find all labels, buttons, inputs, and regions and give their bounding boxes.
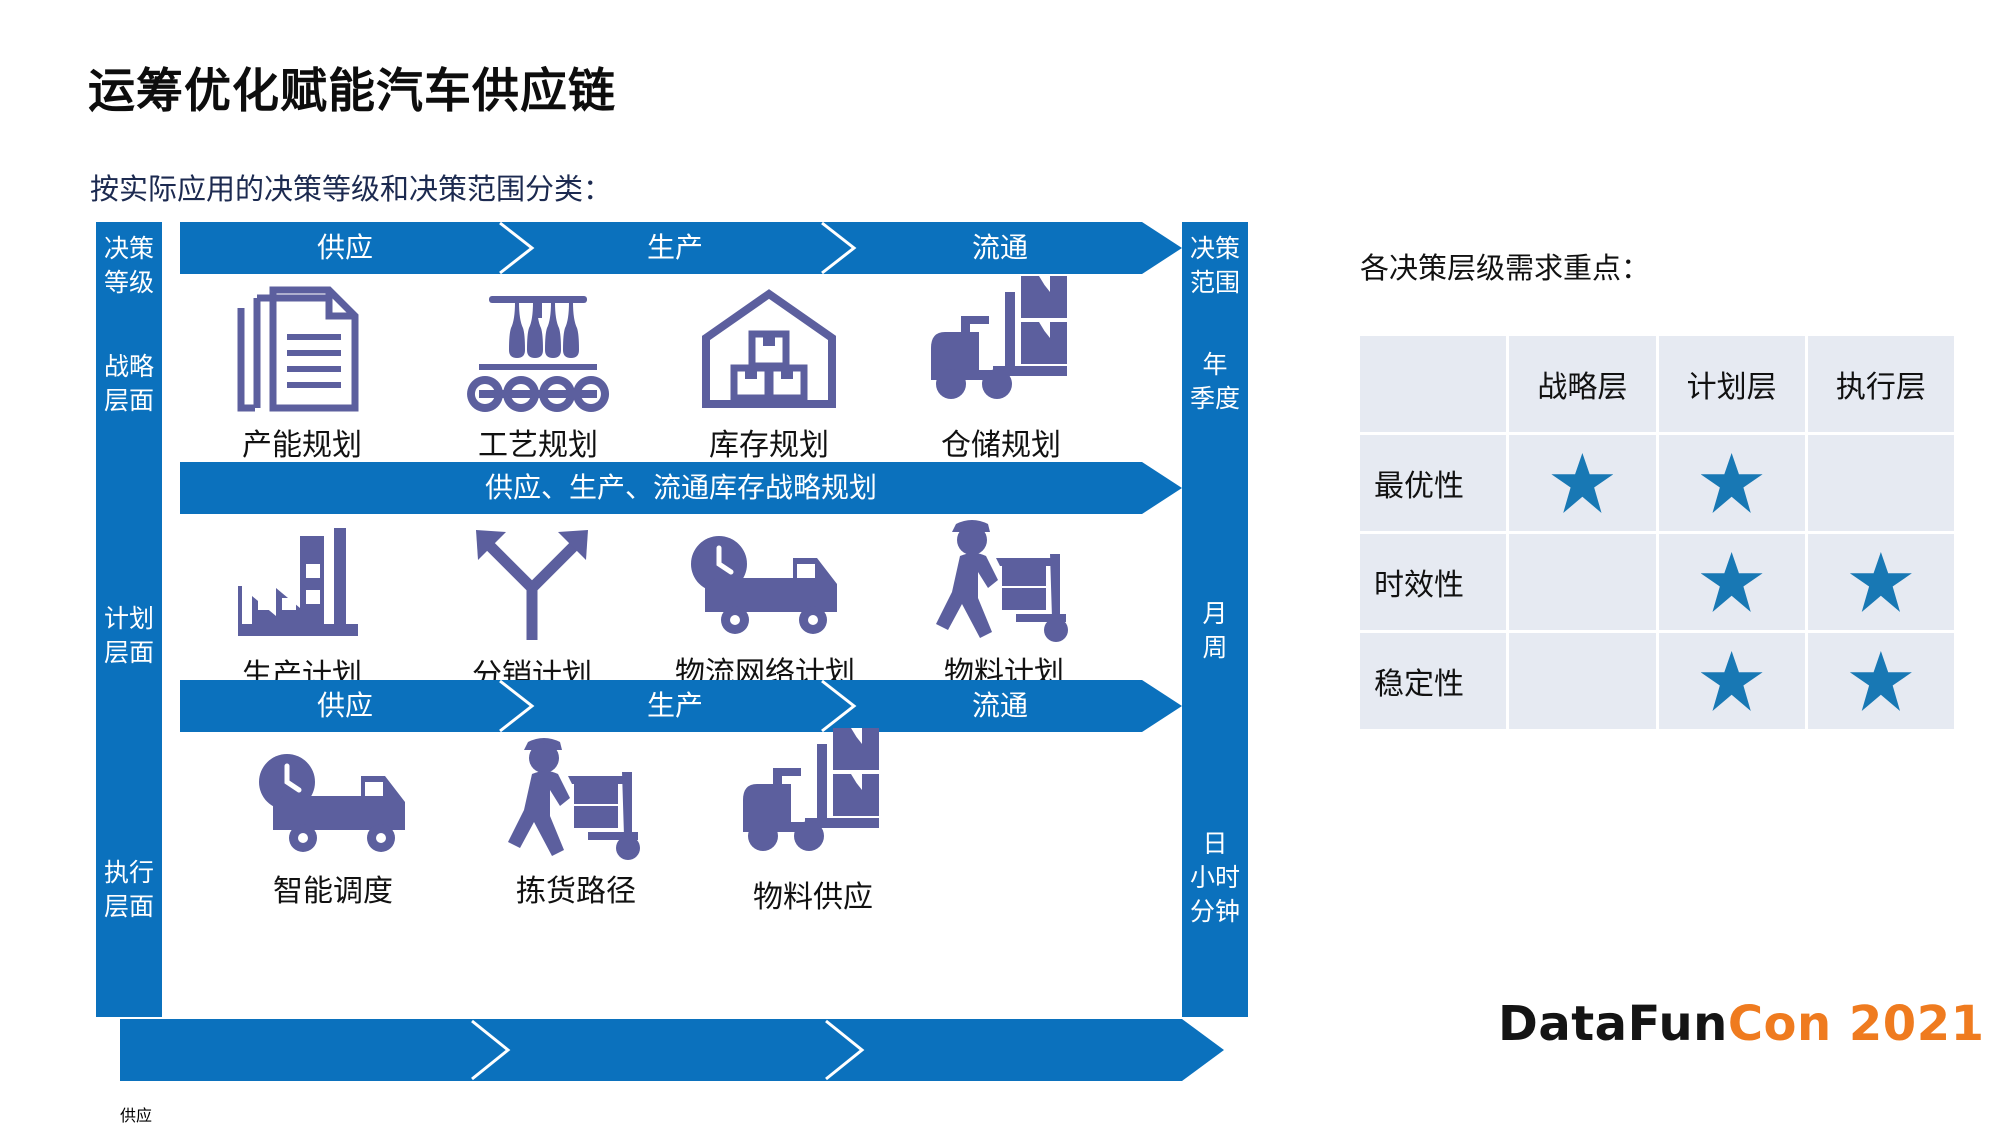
matrix-heading: 各决策层级需求重点： (1360, 245, 1650, 287)
scope-execution-l2: 小时 (1190, 864, 1240, 892)
process-bar-bottom: 供应 生产 流通 (120, 1019, 1224, 1081)
documents-stack-icon (233, 284, 371, 416)
level-planning-line1: 计划 (104, 605, 154, 633)
matrix-rowlabel-optimality: 最优性 (1360, 435, 1506, 531)
process-bar-top: 供应 生产 流通 (180, 222, 1182, 274)
worker-handtruck-icon (502, 732, 650, 862)
item-warehousing-planning-label: 仓储规划 (886, 420, 1116, 464)
matrix-cell-timeliness-strategic (1509, 534, 1655, 630)
delivery-truck-clock-icon (685, 532, 845, 644)
matrix-cell-timeliness-planning (1659, 534, 1805, 630)
decision-scope-header: 决策 范围 (1182, 232, 1248, 300)
matrix-cell-timeliness-execution (1808, 534, 1954, 630)
scope-strategic-l1: 年 (1202, 351, 1227, 379)
matrix-col-strategic: 战略层 (1509, 336, 1655, 432)
matrix-corner-cell (1360, 336, 1506, 432)
decision-level-header: 决策 等级 (96, 232, 162, 300)
level-strategic-line1: 战略 (104, 353, 154, 381)
process-bar-top-seg-1: 生产 (520, 222, 830, 274)
item-capacity-planning-label: 产能规划 (192, 420, 412, 464)
process-bar-top-seg-0: 供应 (180, 222, 510, 274)
item-process-planning: 工艺规划 (428, 284, 648, 464)
decision-scope-header-line2: 范围 (1190, 269, 1240, 297)
item-material-plan: 物料计划 (894, 514, 1114, 692)
factory-icon (232, 524, 372, 646)
level-planning-line2: 层面 (104, 639, 154, 667)
item-smart-dispatch: 智能调度 (208, 750, 458, 910)
split-arrows-icon (462, 522, 602, 646)
item-capacity-planning: 产能规划 (192, 284, 412, 464)
process-bar-top-seg-2: 流通 (840, 222, 1160, 274)
item-process-planning-label: 工艺规划 (428, 420, 648, 464)
star-icon (1701, 552, 1763, 612)
star-icon (1850, 651, 1912, 711)
process-bar-third: 供应 生产 流通 (180, 680, 1182, 732)
worker-handtruck-icon (930, 514, 1078, 644)
scope-planning: 月 周 (1182, 597, 1248, 665)
slide-root: 运筹优化赋能汽车供应链 按实际应用的决策等级和决策范围分类： 各决策层级需求重点… (0, 0, 2000, 1125)
matrix-cell-optimality-planning (1659, 435, 1805, 531)
forklift-pallet-icon (925, 270, 1077, 416)
matrix-col-execution: 执行层 (1808, 336, 1954, 432)
page-title: 运筹优化赋能汽车供应链 (88, 52, 616, 121)
item-picking-route: 拣货路径 (456, 732, 696, 910)
matrix-cell-stability-planning (1659, 633, 1805, 729)
star-icon (1850, 552, 1912, 612)
matrix-cell-optimality-strategic (1509, 435, 1655, 531)
delivery-truck-clock-icon (253, 750, 413, 862)
process-bar-bottom-shape (120, 1019, 1224, 1081)
process-bar-third-seg-0: 供应 (180, 680, 510, 732)
item-smart-dispatch-label: 智能调度 (208, 866, 458, 910)
item-material-supply-label: 物料供应 (688, 872, 938, 916)
level-execution: 执行 层面 (96, 856, 162, 924)
level-planning: 计划 层面 (96, 602, 162, 670)
item-warehousing-planning: 仓储规划 (886, 270, 1116, 464)
item-distribution-plan: 分销计划 (422, 522, 642, 694)
matrix-cell-stability-execution (1808, 633, 1954, 729)
level-execution-line2: 层面 (104, 893, 154, 921)
level-strategic-line2: 层面 (104, 387, 154, 415)
star-icon (1701, 453, 1763, 513)
decision-level-header-line2: 等级 (104, 269, 154, 297)
matrix-cell-stability-strategic (1509, 633, 1655, 729)
process-bar-bottom-seg-0: 供应 (120, 1086, 486, 1125)
matrix-rowlabel-timeliness: 时效性 (1360, 534, 1506, 630)
level-execution-line1: 执行 (104, 859, 154, 887)
logo-datafun: DataFun (1498, 996, 1728, 1052)
scope-execution-l1: 日 (1202, 830, 1227, 858)
item-inventory-planning: 库存规划 (654, 284, 884, 464)
scope-execution-l3: 分钟 (1190, 898, 1240, 926)
item-picking-route-label: 拣货路径 (456, 866, 696, 910)
matrix-row-stability: 稳定性 (1360, 633, 1954, 729)
item-inventory-planning-label: 库存规划 (654, 420, 884, 464)
requirements-matrix: 战略层 计划层 执行层 最优性 时效性 稳定性 (1357, 333, 1957, 732)
supply-chain-diagram: 决策 等级 战略 层面 计划 层面 执行 层面 决策 范围 年 季度 月 周 (96, 222, 1248, 1094)
datafuncon-logo: DataFunCon 2021 (1498, 996, 1985, 1052)
assembly-line-icon (463, 284, 613, 416)
item-logistics-network-plan: 物流网络计划 (640, 532, 890, 692)
subtitle: 按实际应用的决策等级和决策范围分类： (90, 166, 612, 208)
decision-scope-header-line1: 决策 (1190, 235, 1240, 263)
matrix-row-optimality: 最优性 (1360, 435, 1954, 531)
scope-strategic-l2: 季度 (1190, 385, 1240, 413)
matrix-rowlabel-stability: 稳定性 (1360, 633, 1506, 729)
star-icon (1701, 651, 1763, 711)
matrix-row-timeliness: 时效性 (1360, 534, 1954, 630)
scope-planning-l2: 周 (1202, 634, 1227, 662)
warehouse-boxes-icon (694, 284, 844, 416)
logo-con2021: Con 2021 (1728, 996, 1985, 1052)
decision-level-header-line1: 决策 (104, 235, 154, 263)
item-material-supply: 物料供应 (688, 722, 938, 916)
strategic-banner-label: 供应、生产、流通库存战略规划 (180, 462, 1182, 514)
matrix-header-row: 战略层 计划层 执行层 (1360, 336, 1954, 432)
matrix-col-planning: 计划层 (1659, 336, 1805, 432)
star-icon (1551, 453, 1613, 513)
scope-planning-l1: 月 (1202, 600, 1227, 628)
item-production-plan: 生产计划 (192, 524, 412, 694)
level-strategic: 战略 层面 (96, 350, 162, 418)
scope-execution: 日 小时 分钟 (1182, 827, 1248, 929)
matrix-cell-optimality-execution (1808, 435, 1954, 531)
forklift-pallet-icon (737, 722, 889, 868)
strategic-banner: 供应、生产、流通库存战略规划 (180, 462, 1182, 514)
scope-strategic: 年 季度 (1182, 348, 1248, 416)
